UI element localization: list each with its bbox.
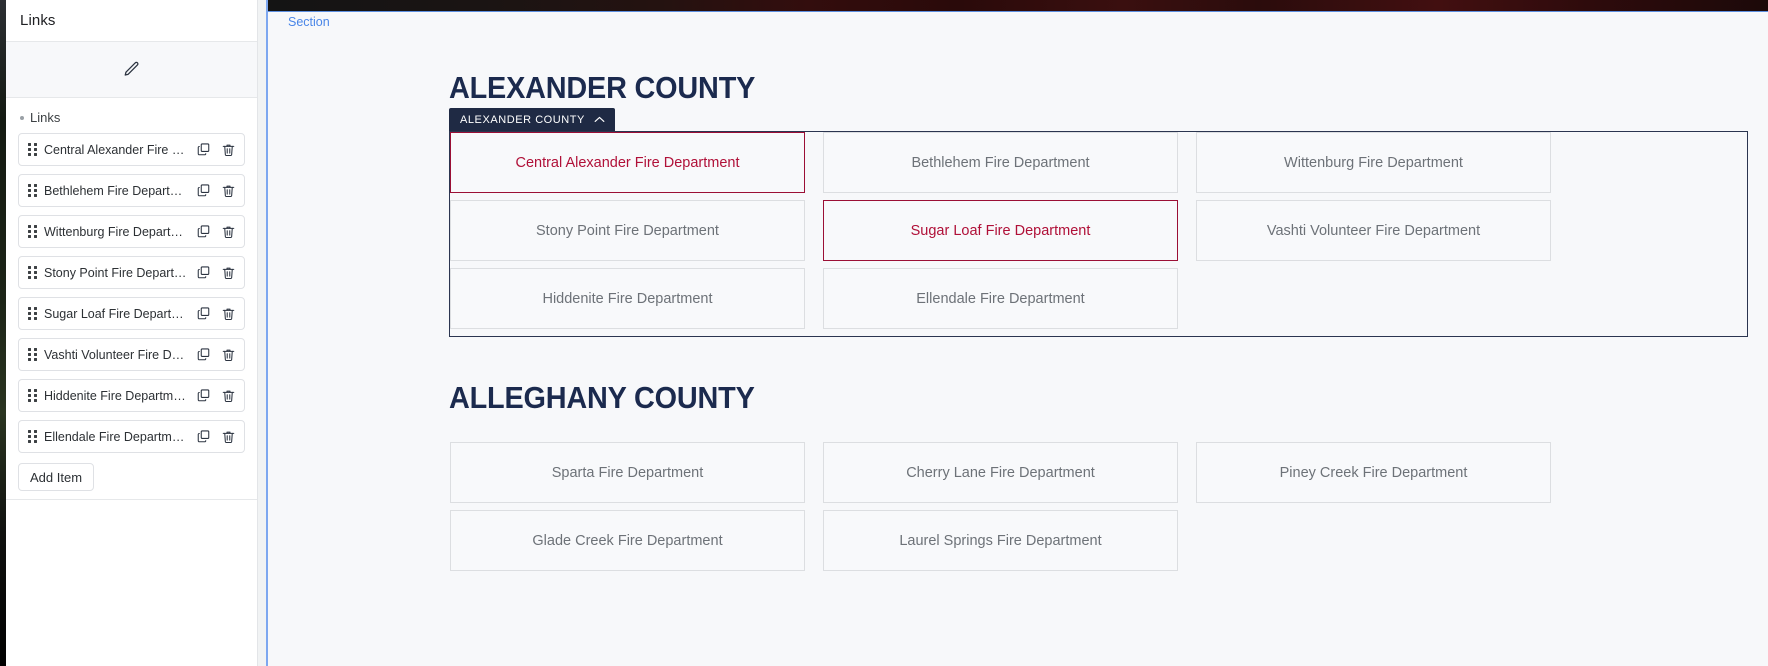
list-item[interactable]: Wittenburg Fire Depart… — [18, 215, 245, 248]
list-item-label: Bethlehem Fire Depart… — [44, 184, 188, 198]
grid-filler — [1196, 268, 1551, 329]
fire-department-card[interactable]: Laurel Springs Fire Department — [823, 510, 1178, 571]
trash-icon[interactable] — [220, 429, 236, 445]
edit-button[interactable] — [117, 55, 147, 85]
chevron-up-icon[interactable] — [594, 114, 605, 126]
preview-canvas: Section ALEXANDER COUNTY ALEXANDER COUNT… — [266, 0, 1768, 666]
links-list: Central Alexander Fire …Bethlehem Fire D… — [18, 133, 245, 453]
section-breadcrumb-link[interactable]: Section — [288, 15, 330, 29]
trash-icon[interactable] — [220, 306, 236, 322]
site-banner-image — [268, 0, 1768, 11]
links-field-label: Links — [30, 110, 60, 125]
links-field-block: Links Central Alexander Fire …Bethlehem … — [6, 98, 257, 491]
list-item-label: Ellendale Fire Department — [44, 430, 188, 444]
list-item-actions — [195, 224, 236, 240]
copy-icon[interactable] — [195, 429, 211, 445]
drag-handle-icon[interactable] — [28, 348, 37, 361]
drag-handle-icon[interactable] — [28, 143, 37, 156]
app-root: Links Links Central Alexander Fire …Beth… — [0, 0, 1768, 666]
list-item-actions — [195, 429, 236, 445]
fire-department-grid-alleghany: Sparta Fire DepartmentCherry Lane Fire D… — [450, 442, 1550, 571]
drag-handle-icon[interactable] — [28, 307, 37, 320]
list-item[interactable]: Vashti Volunteer Fire De… — [18, 338, 245, 371]
list-item-label: Central Alexander Fire … — [44, 143, 188, 157]
copy-icon[interactable] — [195, 142, 211, 158]
fire-department-card[interactable]: Wittenburg Fire Department — [1196, 132, 1551, 193]
copy-icon[interactable] — [195, 306, 211, 322]
list-item[interactable]: Stony Point Fire Depart… — [18, 256, 245, 289]
list-item-actions — [195, 142, 236, 158]
list-item-actions — [195, 347, 236, 363]
drag-handle-icon[interactable] — [28, 389, 37, 402]
editor-toolbar — [6, 42, 257, 98]
add-item-button[interactable]: Add Item — [18, 463, 94, 491]
fire-department-card[interactable]: Hiddenite Fire Department — [450, 268, 805, 329]
trash-icon[interactable] — [220, 142, 236, 158]
fire-department-card[interactable]: Stony Point Fire Department — [450, 200, 805, 261]
fire-department-card[interactable]: Sparta Fire Department — [450, 442, 805, 503]
list-item-actions — [195, 265, 236, 281]
trash-icon[interactable] — [220, 265, 236, 281]
editor-panel: Links Links Central Alexander Fire …Beth… — [6, 0, 258, 666]
list-item[interactable]: Sugar Loaf Fire Depart… — [18, 297, 245, 330]
drag-handle-icon[interactable] — [28, 266, 37, 279]
list-item[interactable]: Ellendale Fire Department — [18, 420, 245, 453]
fire-department-card[interactable]: Piney Creek Fire Department — [1196, 442, 1551, 503]
fire-department-card[interactable]: Cherry Lane Fire Department — [823, 442, 1178, 503]
trash-icon[interactable] — [220, 183, 236, 199]
drag-handle-icon[interactable] — [28, 184, 37, 197]
banner-underline — [268, 11, 1768, 12]
list-item-actions — [195, 388, 236, 404]
section-heading-alexander: ALEXANDER COUNTY — [449, 70, 755, 106]
list-item-actions — [195, 306, 236, 322]
drag-handle-icon[interactable] — [28, 225, 37, 238]
copy-icon[interactable] — [195, 388, 211, 404]
list-item[interactable]: Bethlehem Fire Depart… — [18, 174, 245, 207]
selected-section-tab-label: ALEXANDER COUNTY — [460, 114, 585, 126]
trash-icon[interactable] — [220, 224, 236, 240]
copy-icon[interactable] — [195, 183, 211, 199]
editor-panel-header: Links — [6, 0, 257, 42]
fire-department-card-selected[interactable]: Central Alexander Fire Department — [450, 132, 805, 193]
panel-divider — [6, 499, 257, 500]
copy-icon[interactable] — [195, 347, 211, 363]
list-item-label: Vashti Volunteer Fire De… — [44, 348, 188, 362]
fire-department-card[interactable]: Ellendale Fire Department — [823, 268, 1178, 329]
fire-department-card[interactable]: Glade Creek Fire Department — [450, 510, 805, 571]
section-heading-alleghany: ALLEGHANY COUNTY — [449, 380, 755, 416]
trash-icon[interactable] — [220, 347, 236, 363]
copy-icon[interactable] — [195, 265, 211, 281]
drag-handle-icon[interactable] — [28, 430, 37, 443]
list-item[interactable]: Central Alexander Fire … — [18, 133, 245, 166]
bullet-icon — [20, 116, 24, 120]
list-item-label: Sugar Loaf Fire Depart… — [44, 307, 188, 321]
pencil-icon — [122, 60, 141, 79]
list-item-label: Hiddenite Fire Departm… — [44, 389, 188, 403]
list-item-actions — [195, 183, 236, 199]
fire-department-card[interactable]: Bethlehem Fire Department — [823, 132, 1178, 193]
list-item-label: Stony Point Fire Depart… — [44, 266, 188, 280]
trash-icon[interactable] — [220, 388, 236, 404]
list-item[interactable]: Hiddenite Fire Departm… — [18, 379, 245, 412]
links-field-label-row: Links — [18, 110, 245, 125]
page-title: Links — [20, 12, 56, 29]
selected-section-tab[interactable]: ALEXANDER COUNTY — [449, 108, 615, 131]
fire-department-grid-alexander: Central Alexander Fire DepartmentBethleh… — [450, 132, 1550, 329]
fire-department-card[interactable]: Vashti Volunteer Fire Department — [1196, 200, 1551, 261]
panel-canvas-gap — [258, 0, 266, 666]
copy-icon[interactable] — [195, 224, 211, 240]
fire-department-card-selected[interactable]: Sugar Loaf Fire Department — [823, 200, 1178, 261]
list-item-label: Wittenburg Fire Depart… — [44, 225, 188, 239]
